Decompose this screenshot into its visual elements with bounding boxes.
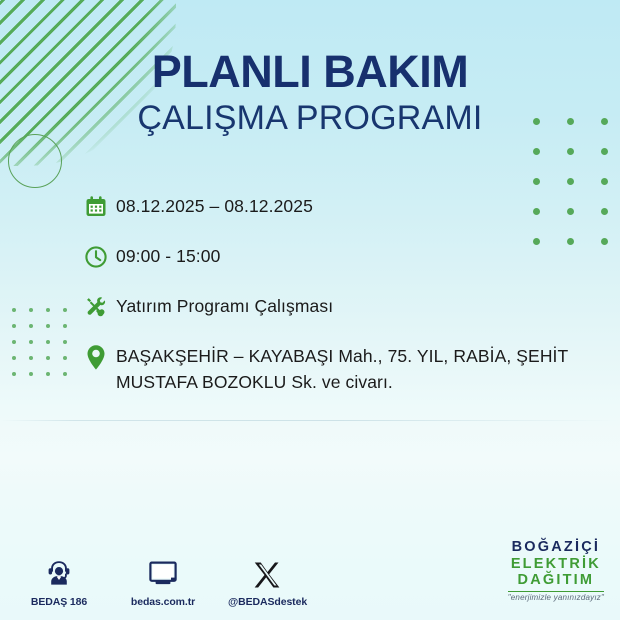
dot — [46, 372, 50, 376]
dot — [533, 148, 540, 155]
dot — [63, 340, 67, 344]
contact-item-website[interactable]: bedas.com.tr — [124, 552, 202, 608]
calendar-icon — [84, 192, 116, 222]
dot — [29, 308, 33, 312]
brand-line-2: ELEKTRİK — [508, 556, 604, 572]
title-subtitle: ÇALIŞMA PROGRAMI — [0, 99, 620, 138]
dot — [533, 178, 540, 185]
contact-item-phone[interactable]: BEDAŞ 186 — [20, 552, 98, 608]
dot — [63, 372, 67, 376]
detail-time-value: 09:00 - 15:00 — [116, 242, 220, 270]
page-title: PLANLI BAKIM ÇALIŞMA PROGRAMI — [0, 48, 620, 138]
brand-tagline: "enerjimizle yanınızdayız" — [508, 593, 604, 602]
detail-row-location: BAŞAKŞEHİR – KAYABAŞI Mah., 75. YIL, RAB… — [84, 342, 604, 396]
contact-label-website: bedas.com.tr — [124, 596, 202, 608]
brand-logo: BOĞAZİÇİ ELEKTRİK DAĞITIM "enerjimizle y… — [508, 539, 604, 602]
brand-underline — [508, 591, 604, 593]
detail-work-type-value: Yatırım Programı Çalışması — [116, 292, 333, 320]
dot — [567, 148, 574, 155]
title-main: PLANLI BAKIM — [0, 48, 620, 95]
brand-line-3: DAĞITIM — [508, 572, 604, 588]
dot — [12, 372, 16, 376]
dot — [12, 308, 16, 312]
planned-maintenance-poster: PLANLI BAKIM ÇALIŞMA PROGRAMI 08.12.2025… — [0, 0, 620, 620]
section-divider — [0, 420, 620, 421]
dot — [29, 356, 33, 360]
dot-grid-left-decoration — [12, 308, 80, 388]
circle-outline-decoration — [8, 134, 62, 188]
detail-row-time: 09:00 - 15:00 — [84, 242, 604, 272]
brand-line-1: BOĞAZİÇİ — [508, 539, 604, 555]
contact-label-social: @BEDASdestek — [228, 596, 306, 608]
tools-icon — [84, 292, 116, 322]
dot — [12, 324, 16, 328]
dot — [46, 356, 50, 360]
dot — [601, 178, 608, 185]
detail-date-value: 08.12.2025 – 08.12.2025 — [116, 192, 313, 220]
dot — [567, 178, 574, 185]
contact-group: BEDAŞ 186 bedas.com.tr — [20, 552, 306, 608]
clock-icon — [84, 242, 116, 272]
dot — [12, 356, 16, 360]
dot — [601, 148, 608, 155]
headset-support-icon — [20, 552, 98, 590]
dot — [46, 324, 50, 328]
dot — [29, 324, 33, 328]
detail-row-work-type: Yatırım Programı Çalışması — [84, 292, 604, 322]
contact-item-social[interactable]: @BEDASdestek — [228, 552, 306, 608]
footer: BEDAŞ 186 bedas.com.tr — [0, 500, 620, 620]
dot — [29, 372, 33, 376]
x-twitter-icon — [228, 552, 306, 590]
dot — [29, 340, 33, 344]
dot — [46, 340, 50, 344]
detail-row-date: 08.12.2025 – 08.12.2025 — [84, 192, 604, 222]
dot — [63, 324, 67, 328]
dot — [12, 340, 16, 344]
monitor-icon — [124, 552, 202, 590]
location-pin-icon — [84, 342, 116, 372]
dot — [63, 356, 67, 360]
contact-label-phone: BEDAŞ 186 — [20, 596, 98, 608]
maintenance-details-list: 08.12.2025 – 08.12.2025 09:00 - 15:00 — [84, 192, 604, 396]
dot — [63, 308, 67, 312]
detail-location-value: BAŞAKŞEHİR – KAYABAŞI Mah., 75. YIL, RAB… — [116, 342, 586, 396]
dot — [46, 308, 50, 312]
